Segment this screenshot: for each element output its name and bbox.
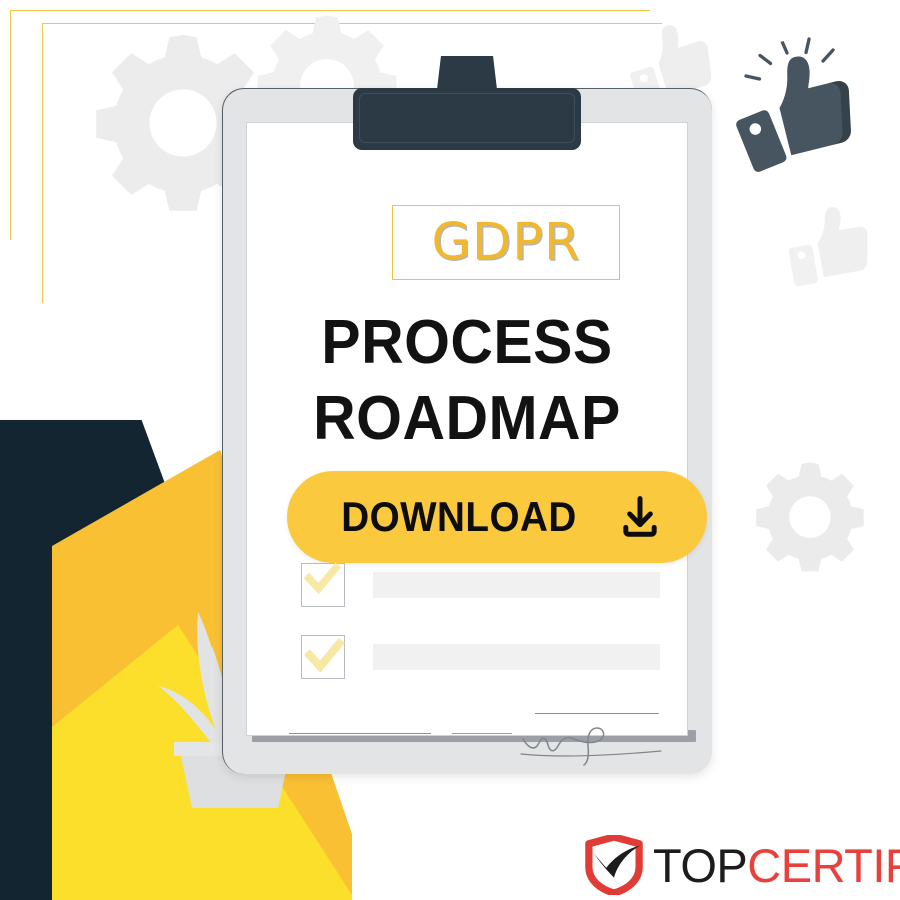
shield-check-icon	[585, 835, 643, 895]
page-title: PROCESS ROADMAP	[247, 305, 687, 457]
brand-logo[interactable]: TOPCERTIFIER	[585, 835, 900, 895]
gdpr-label: GDPR	[432, 213, 581, 272]
thumbs-up-icon	[774, 188, 885, 299]
download-button[interactable]: DOWNLOAD	[287, 471, 707, 563]
checkbox-1[interactable]	[301, 563, 345, 607]
signature-mark	[519, 715, 669, 775]
clipboard-clip	[353, 88, 581, 150]
download-arrow-icon	[617, 494, 663, 540]
check-icon	[301, 633, 347, 679]
gear-icon	[745, 452, 875, 582]
placeholder-bar	[373, 644, 660, 670]
gdpr-badge: GDPR	[392, 205, 620, 280]
check-icon	[301, 558, 343, 600]
brand-name-certifier: CERTIFIER	[747, 839, 900, 892]
clipboard: GDPR PROCESS ROADMAP DOWNLOAD	[222, 88, 712, 774]
headline-line-1: PROCESS	[258, 305, 676, 381]
placeholder-bar	[373, 572, 660, 598]
brand-name-top: TOP	[653, 839, 747, 892]
headline-line-2: ROADMAP	[258, 381, 676, 457]
list-item[interactable]	[301, 563, 660, 607]
checkbox-2[interactable]	[301, 635, 345, 679]
download-button-label: DOWNLOAD	[341, 493, 576, 541]
paper-sheet: GDPR PROCESS ROADMAP DOWNLOAD	[246, 122, 688, 736]
brand-wordmark: TOPCERTIFIER	[653, 842, 900, 889]
signature-rule	[452, 733, 512, 734]
poster-canvas: GDPR PROCESS ROADMAP DOWNLOAD	[0, 0, 900, 900]
list-item[interactable]	[301, 635, 660, 679]
signature-rule	[289, 733, 431, 734]
thumbs-up-icon	[716, 26, 876, 186]
